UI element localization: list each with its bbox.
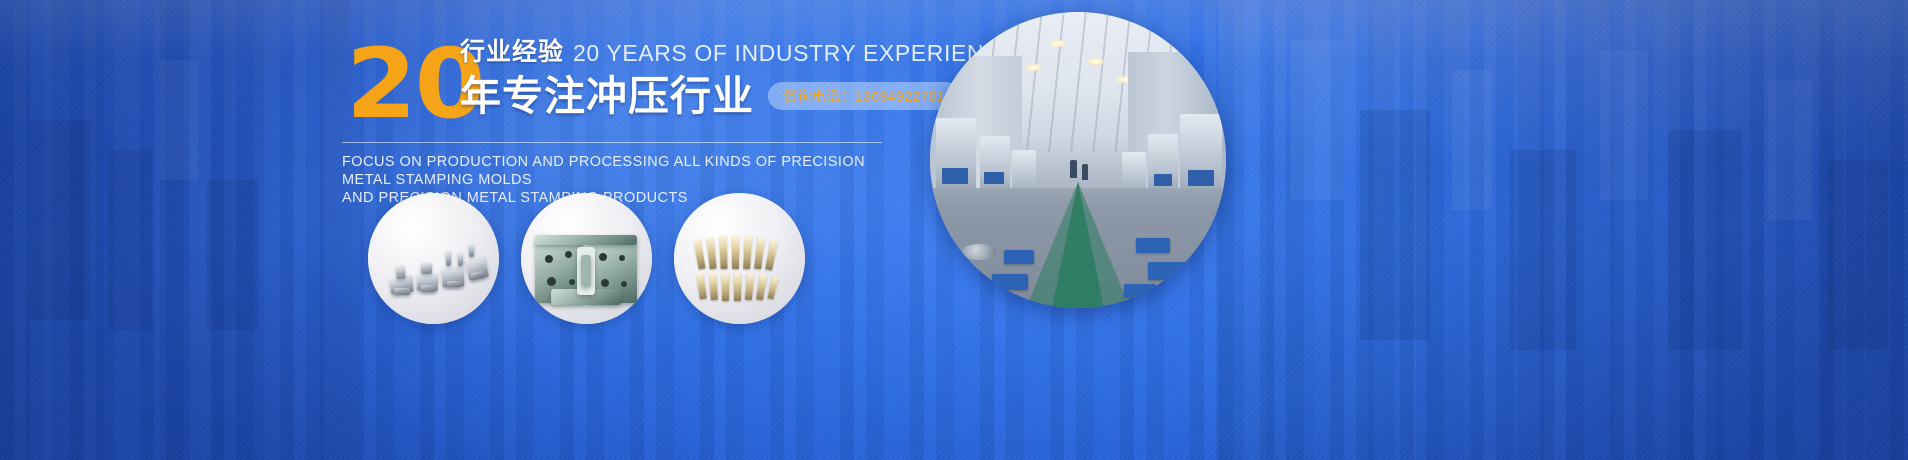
subtitle-line-1: FOCUS ON PRODUCTION AND PROCESSING ALL K… [342, 153, 902, 189]
product-circles [368, 193, 805, 324]
headline-cn-experience: 行业经验 [460, 39, 564, 66]
stamping-mold-photo [521, 193, 652, 324]
headline-divider [342, 142, 882, 143]
product-circle-stamping-mold [521, 193, 652, 324]
product-circle-metal-pins [674, 193, 805, 324]
headline-cn-focus: 年专注冲压行业 [460, 74, 754, 118]
factory-workshop-photo [930, 12, 1226, 308]
product-circle-usb-connectors [368, 193, 499, 324]
promo-banner: 20 行业经验 20 YEARS OF INDUSTRY EXPERIENCE … [0, 0, 1908, 460]
usb-connectors-photo [368, 193, 499, 324]
metal-pins-photo [674, 193, 805, 324]
